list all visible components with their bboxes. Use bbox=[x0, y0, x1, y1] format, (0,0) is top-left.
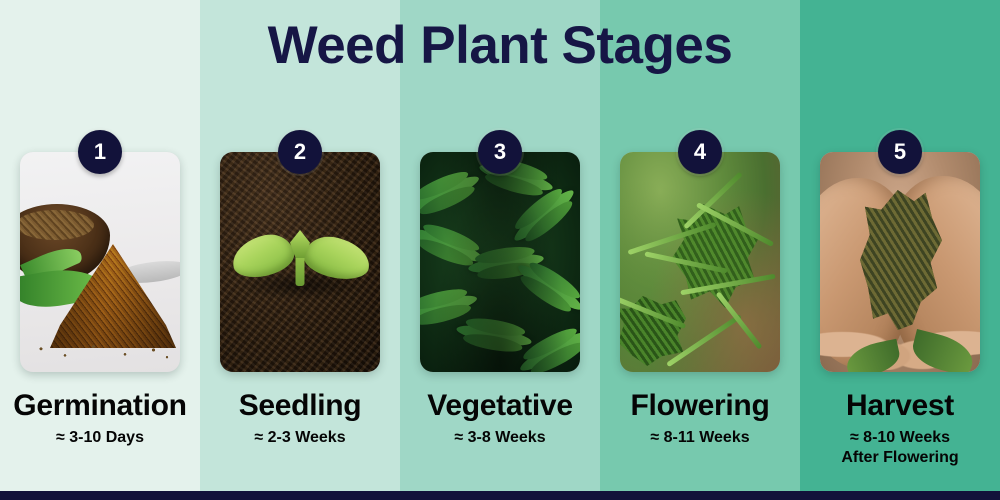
stage-image-card-1 bbox=[20, 152, 180, 372]
stage-duration-line-1: ≈ 3-10 Days bbox=[0, 428, 200, 448]
stage-name-5: Harvest bbox=[800, 390, 1000, 422]
stage-number-badge-2: 2 bbox=[278, 130, 322, 174]
seeds-photo bbox=[20, 152, 180, 372]
stage-caption-3: Vegetative ≈ 3-8 Weeks bbox=[400, 390, 600, 448]
stage-card-wrap-3: 3 bbox=[420, 152, 580, 372]
harvest-photo bbox=[820, 152, 980, 372]
stage-image-card-3 bbox=[420, 152, 580, 372]
leaf-blades bbox=[620, 152, 780, 372]
bottom-bar bbox=[0, 491, 1000, 500]
stage-caption-2: Seedling ≈ 2-3 Weeks bbox=[200, 390, 400, 448]
stage-card-wrap-4: 4 bbox=[620, 152, 780, 372]
leaf-blade bbox=[680, 274, 775, 296]
stage-duration-5: ≈ 8-10 Weeks After Flowering bbox=[800, 428, 1000, 468]
weed-plant-stages-infographic: Weed Plant Stages 1 bbox=[0, 0, 1000, 500]
stage-card-wrap-5: 5 bbox=[820, 152, 980, 372]
stage-duration-4: ≈ 8-11 Weeks bbox=[600, 428, 800, 448]
stage-caption-4: Flowering ≈ 8-11 Weeks bbox=[600, 390, 800, 448]
stage-number-badge-3: 3 bbox=[478, 130, 522, 174]
leaf-blade bbox=[644, 251, 727, 273]
stage-image-card-2 bbox=[220, 152, 380, 372]
stage-card-wrap-1: 1 bbox=[20, 152, 180, 372]
stage-duration-3: ≈ 3-8 Weeks bbox=[400, 428, 600, 448]
stage-name-2: Seedling bbox=[200, 390, 400, 422]
stage-card-wrap-2: 2 bbox=[220, 152, 380, 372]
page-title: Weed Plant Stages bbox=[0, 16, 1000, 75]
foliage-shading bbox=[420, 152, 580, 372]
stage-number-badge-5: 5 bbox=[878, 130, 922, 174]
stage-duration-1: ≈ 3-10 Days bbox=[0, 428, 200, 448]
stage-duration-note-5: After Flowering bbox=[800, 448, 1000, 468]
scattered-seeds-shape bbox=[26, 340, 176, 362]
stage-duration-line-3: ≈ 3-8 Weeks bbox=[400, 428, 600, 448]
flowering-photo bbox=[620, 152, 780, 372]
stage-name-3: Vegetative bbox=[400, 390, 600, 422]
leaf-blade bbox=[627, 222, 716, 255]
stage-image-card-5 bbox=[820, 152, 980, 372]
stage-duration-2: ≈ 2-3 Weeks bbox=[200, 428, 400, 448]
stage-number-badge-4: 4 bbox=[678, 130, 722, 174]
stage-caption-1: Germination ≈ 3-10 Days bbox=[0, 390, 200, 448]
stage-duration-line-5: ≈ 8-10 Weeks bbox=[800, 428, 1000, 448]
stage-duration-line-4: ≈ 8-11 Weeks bbox=[600, 428, 800, 448]
stage-number-badge-1: 1 bbox=[78, 130, 122, 174]
stage-image-card-4 bbox=[620, 152, 780, 372]
foliage-photo bbox=[420, 152, 580, 372]
stage-caption-5: Harvest ≈ 8-10 Weeks After Flowering bbox=[800, 390, 1000, 468]
stage-duration-line-2: ≈ 2-3 Weeks bbox=[200, 428, 400, 448]
leaf-blade bbox=[620, 296, 686, 329]
seedling-photo bbox=[220, 152, 380, 372]
stage-name-1: Germination bbox=[0, 390, 200, 422]
stage-name-4: Flowering bbox=[600, 390, 800, 422]
leaf-blade bbox=[715, 291, 762, 349]
